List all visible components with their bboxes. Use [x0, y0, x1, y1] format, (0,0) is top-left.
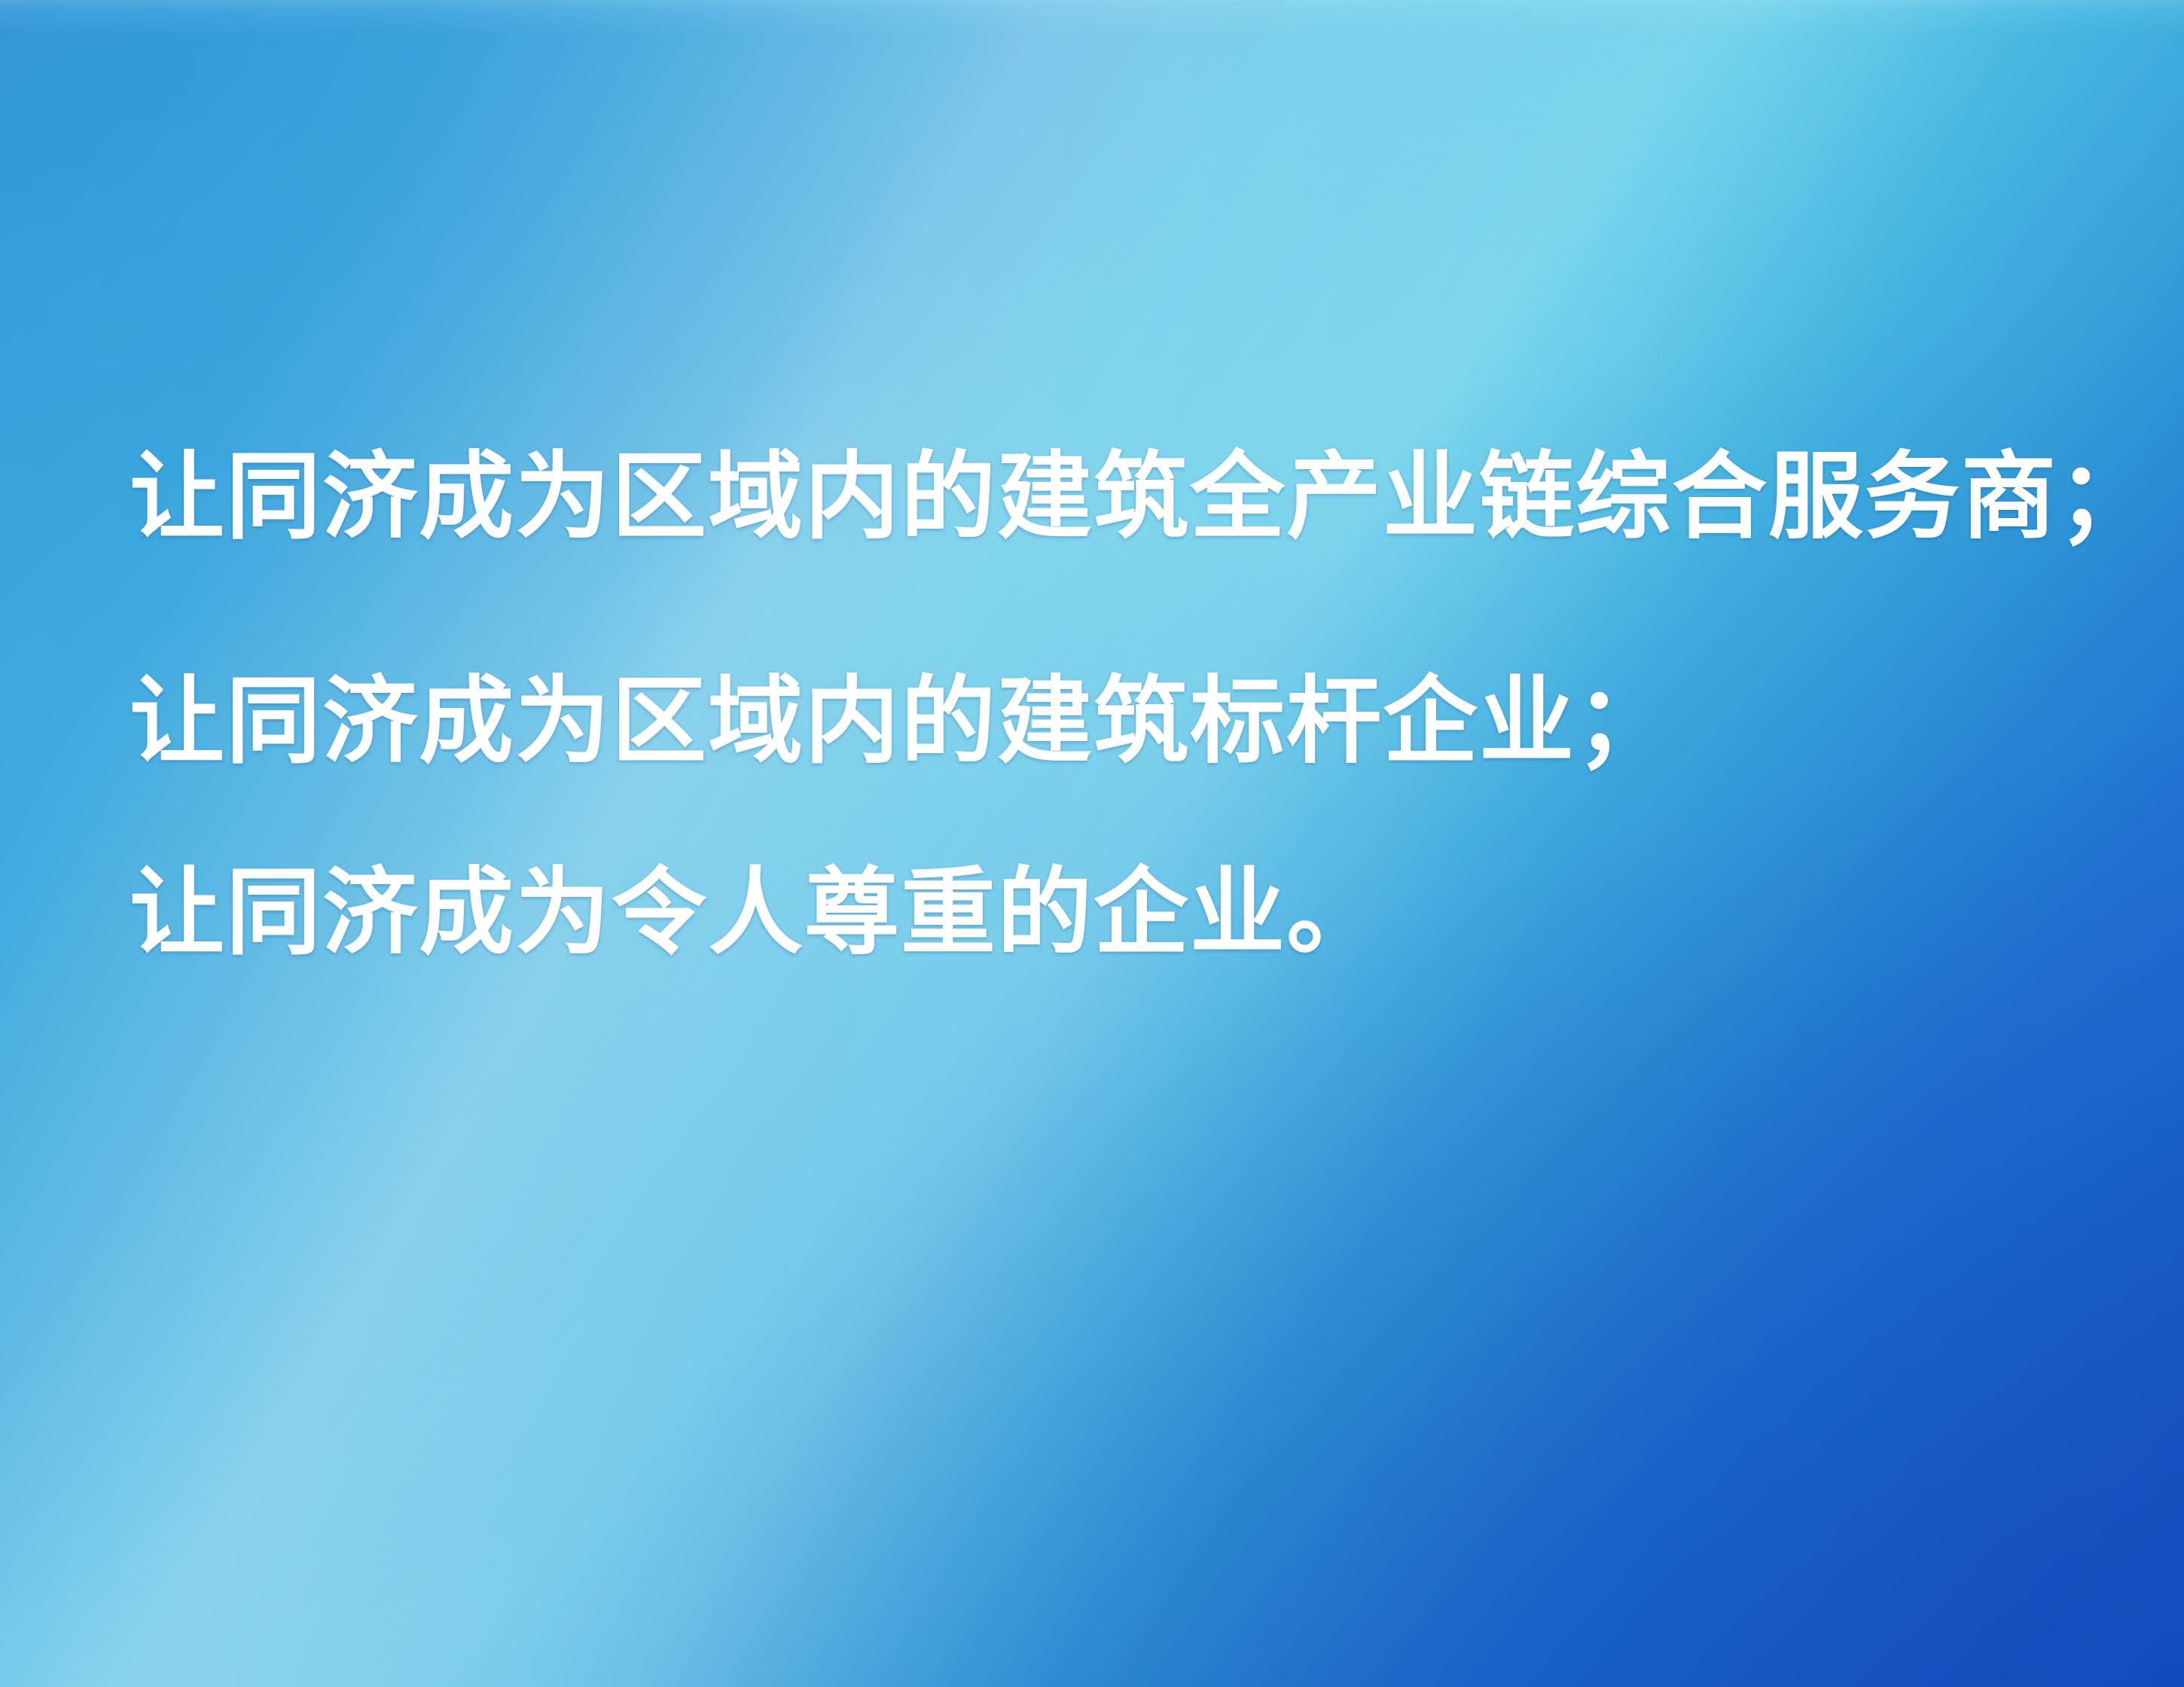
slide-text-block: 让同济成为区域内的建筑全产业链综合服务商； 让同济成为区域内的建筑标杆企业； 让…	[130, 449, 2118, 959]
slide-text-line-2: 让同济成为区域内的建筑标杆企业；	[130, 673, 2118, 768]
slide-text-line-1: 让同济成为区域内的建筑全产业链综合服务商；	[130, 449, 2118, 544]
presentation-slide: 让同济成为区域内的建筑全产业链综合服务商； 让同济成为区域内的建筑标杆企业； 让…	[0, 0, 2184, 1687]
slide-text-line-3: 让同济成为令人尊重的企业。	[130, 865, 2118, 959]
